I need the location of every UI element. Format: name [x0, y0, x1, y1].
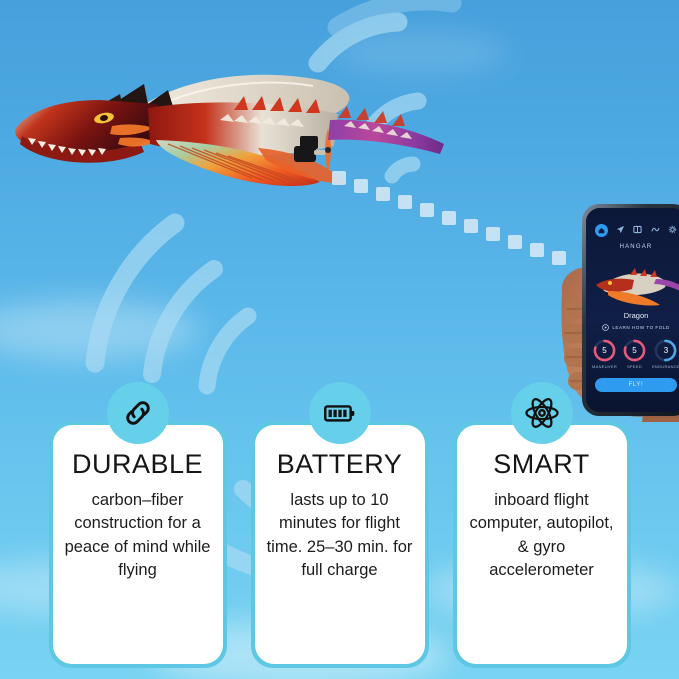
card-title: SMART [493, 451, 590, 478]
stat-label: SPEED [627, 364, 642, 369]
stat-value: 3 [654, 339, 677, 362]
stat-label: ENDURANCE [652, 364, 679, 369]
stat-maneuver: 5 MANEUVER [592, 339, 617, 369]
atom-icon [511, 382, 573, 444]
stat-endurance: 3 ENDURANCE [652, 339, 679, 369]
book-icon[interactable] [633, 221, 642, 239]
feature-cards: DURABLE carbon–fiber construction for a … [0, 404, 679, 679]
model-preview[interactable]: › [586, 251, 679, 311]
card-title: BATTERY [277, 451, 403, 478]
card-body: lasts up to 10 minutes for flight time. … [265, 489, 415, 583]
card-frame: BATTERY lasts up to 10 minutes for fligh… [251, 421, 429, 668]
chain-link-icon [107, 382, 169, 444]
card-title: DURABLE [72, 451, 203, 478]
feature-card-smart[interactable]: SMART inboard flight computer, autopilot… [453, 404, 631, 679]
learn-how-to-fold-link[interactable]: LEARN HOW TO FOLD [586, 324, 679, 331]
card-body: inboard flight computer, autopilot, & gy… [467, 489, 617, 583]
battery-icon [309, 382, 371, 444]
activity-icon[interactable] [651, 221, 660, 239]
hangar-icon[interactable] [595, 224, 608, 237]
plane-icon[interactable] [616, 221, 625, 239]
learn-link-label: LEARN HOW TO FOLD [612, 325, 669, 330]
stat-value: 5 [623, 339, 646, 362]
app-toolbar[interactable] [586, 208, 679, 242]
promo-banner: HANGAR › Dragon [0, 0, 679, 679]
play-circle-icon [602, 324, 609, 331]
stat-speed: 5 SPEED [623, 339, 646, 369]
card-frame: DURABLE carbon–fiber construction for a … [49, 421, 227, 668]
feature-card-battery[interactable]: BATTERY lasts up to 10 minutes for fligh… [251, 404, 429, 679]
gear-icon[interactable] [668, 221, 677, 239]
stat-value: 5 [593, 339, 616, 362]
fly-button[interactable]: FLY! [595, 378, 677, 392]
cloud-wisp [0, 300, 200, 360]
card-body: carbon–fiber construction for a peace of… [63, 489, 213, 583]
feature-card-durable[interactable]: DURABLE carbon–fiber construction for a … [49, 404, 227, 679]
stat-label: MANEUVER [592, 364, 617, 369]
screen-title: HANGAR [586, 244, 679, 250]
phone-app-screen[interactable]: HANGAR › Dragon [586, 208, 679, 412]
model-name: Dragon [586, 311, 679, 320]
hand-holding-phone: HANGAR › Dragon [560, 196, 679, 426]
dragon-drone [8, 66, 448, 196]
stats-row: 5 MANEUVER 5 SPEED [586, 339, 679, 369]
card-frame: SMART inboard flight computer, autopilot… [453, 421, 631, 668]
